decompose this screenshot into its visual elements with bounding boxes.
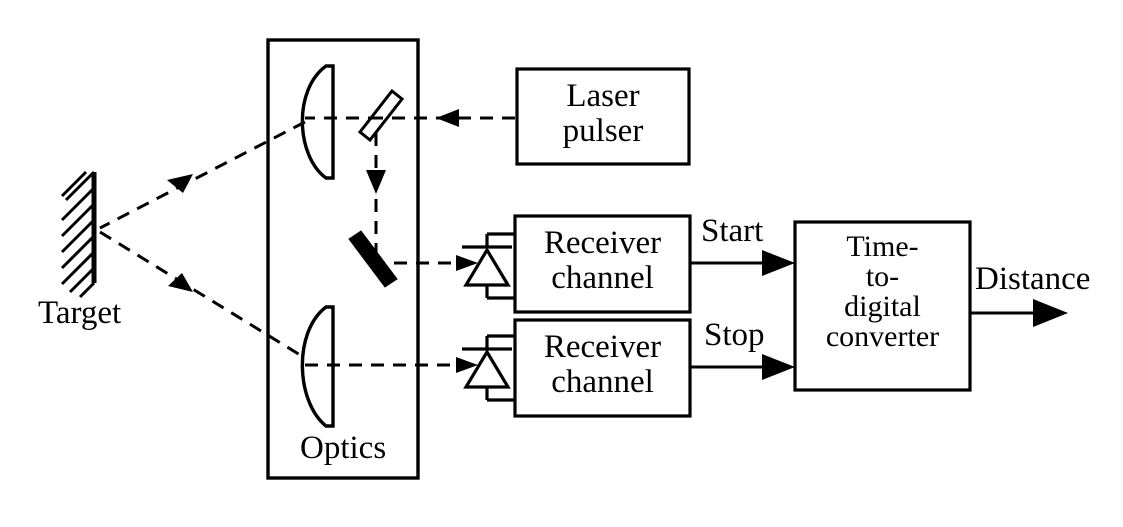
beam-laser-to-splitter (381, 109, 515, 127)
laser-pulser-label: Laser pulser (517, 79, 689, 149)
folding-mirror (349, 231, 397, 287)
distance-output-wire (970, 299, 1068, 327)
optics-label: Optics (300, 431, 386, 466)
tdc-line-2: to- (795, 262, 970, 292)
target-label: Target (38, 296, 121, 331)
receiver-channel-start-line-1: Receiver (515, 226, 690, 261)
time-to-digital-converter-label: Time- to- digital converter (795, 232, 970, 352)
tdc-line-3: digital (795, 292, 970, 322)
start-label: Start (701, 214, 763, 249)
laser-pulser-line-1: Laser (517, 79, 689, 114)
receiver-channel-stop-label: Receiver channel (515, 330, 690, 400)
receiver-channel-start-label: Receiver channel (515, 226, 690, 296)
start-signal-wire (690, 250, 795, 276)
tdc-line-1: Time- (795, 232, 970, 262)
diagram-canvas: Laser pulser Receiver channel Receiver c… (0, 0, 1123, 527)
receiver-channel-stop-line-1: Receiver (515, 330, 690, 365)
photodiode-stop (462, 336, 515, 400)
stop-signal-wire (690, 354, 795, 380)
laser-pulser-line-2: pulser (517, 114, 689, 149)
target-mirror (62, 172, 94, 297)
tdc-line-4: converter (795, 322, 970, 352)
beam-splitter (360, 91, 402, 140)
receiver-channel-stop-line-2: channel (515, 365, 690, 400)
stop-label: Stop (704, 318, 765, 353)
distance-label: Distance (975, 262, 1090, 297)
upper-lens (302, 66, 333, 178)
photodiode-start (462, 234, 515, 298)
beam-upper-lens-to-target (100, 122, 305, 228)
beam-target-to-lower-lens (100, 232, 305, 358)
receiver-channel-start-line-2: channel (515, 261, 690, 296)
